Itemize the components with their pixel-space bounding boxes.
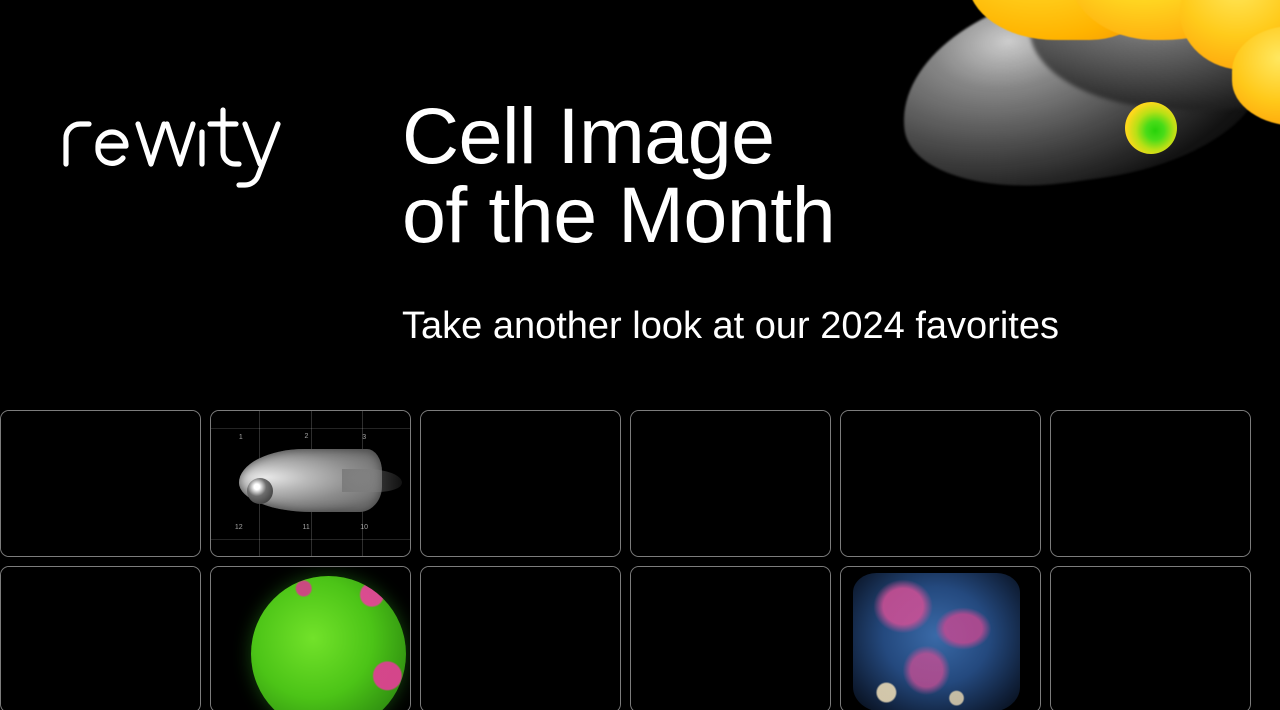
- gallery-tile-neuronal-network-magenta[interactable]: [0, 410, 201, 557]
- zebrafish-eye: [247, 478, 273, 504]
- grid-number-11: 11: [303, 524, 310, 531]
- grid-number-10: 10: [360, 524, 368, 531]
- grid-number-2: 2: [305, 433, 309, 440]
- gallery-tile-green-puncta-network[interactable]: [1050, 566, 1251, 710]
- grid-number-3: 3: [362, 434, 366, 441]
- gallery-tile-zebrafish-embryo-brightfield[interactable]: 1 2 3 12 11 10: [210, 410, 411, 557]
- gallery-tile-gold-blue-monolayer[interactable]: [0, 566, 201, 710]
- thumbnail-image-10: [631, 567, 830, 710]
- grid-number-12: 12: [235, 524, 243, 531]
- organoid-shape: [853, 573, 1020, 710]
- thumbnail-image-12: [1051, 567, 1250, 710]
- gallery-tile-green-membrane-cells[interactable]: [420, 566, 621, 710]
- blob-shape-2: [1068, 0, 1258, 40]
- zebrafish-tail: [342, 469, 402, 492]
- blob-shape-1: [968, 0, 1168, 40]
- image-gallery: 1 2 3 12 11 10: [0, 410, 1280, 710]
- blob-shape-3: [1180, 0, 1280, 70]
- gallery-tile-blue-nuclei-red-network[interactable]: [840, 410, 1041, 557]
- spheroid-shape: [251, 576, 406, 710]
- revvity-logo: revvity: [52, 102, 292, 188]
- grey-body-shape-secondary: [1023, 0, 1280, 125]
- thumbnail-image-1: [1, 411, 200, 556]
- thumbnail-image-2: 1 2 3 12 11 10: [211, 411, 410, 556]
- thumbnail-image-5: [841, 411, 1040, 556]
- thumbnail-image-11: [841, 567, 1040, 710]
- page-title: Cell Image of the Month: [402, 96, 1022, 254]
- thumbnail-image-6: [1051, 411, 1250, 556]
- gallery-tile-organoid-section-blue-magenta[interactable]: [840, 566, 1041, 710]
- thumbnail-image-9: [421, 567, 620, 710]
- grid-number-1: 1: [239, 434, 243, 441]
- gallery-tile-orange-spheroids-scatter[interactable]: [420, 410, 621, 557]
- gallery-tile-cells-blue-nuclei-gold[interactable]: [630, 410, 831, 557]
- gallery-tile-green-spheroid-magenta[interactable]: [210, 566, 411, 710]
- blob-shape-4: [1232, 26, 1280, 126]
- thumbnail-image-8: [211, 567, 410, 710]
- gallery-tile-orange-fiber-network[interactable]: [630, 566, 831, 710]
- thumbnail-image-3: [421, 411, 620, 556]
- thumbnail-image-4: [631, 411, 830, 556]
- gallery-tile-yellow-neuron-network[interactable]: [1050, 410, 1251, 557]
- thumbnail-image-7: [1, 567, 200, 710]
- green-sphere-icon: [1125, 102, 1177, 154]
- slide-canvas: revvity Cell Image of the Month Take ano…: [0, 0, 1280, 710]
- page-subtitle: Take another look at our 2024 favorites: [402, 303, 1059, 349]
